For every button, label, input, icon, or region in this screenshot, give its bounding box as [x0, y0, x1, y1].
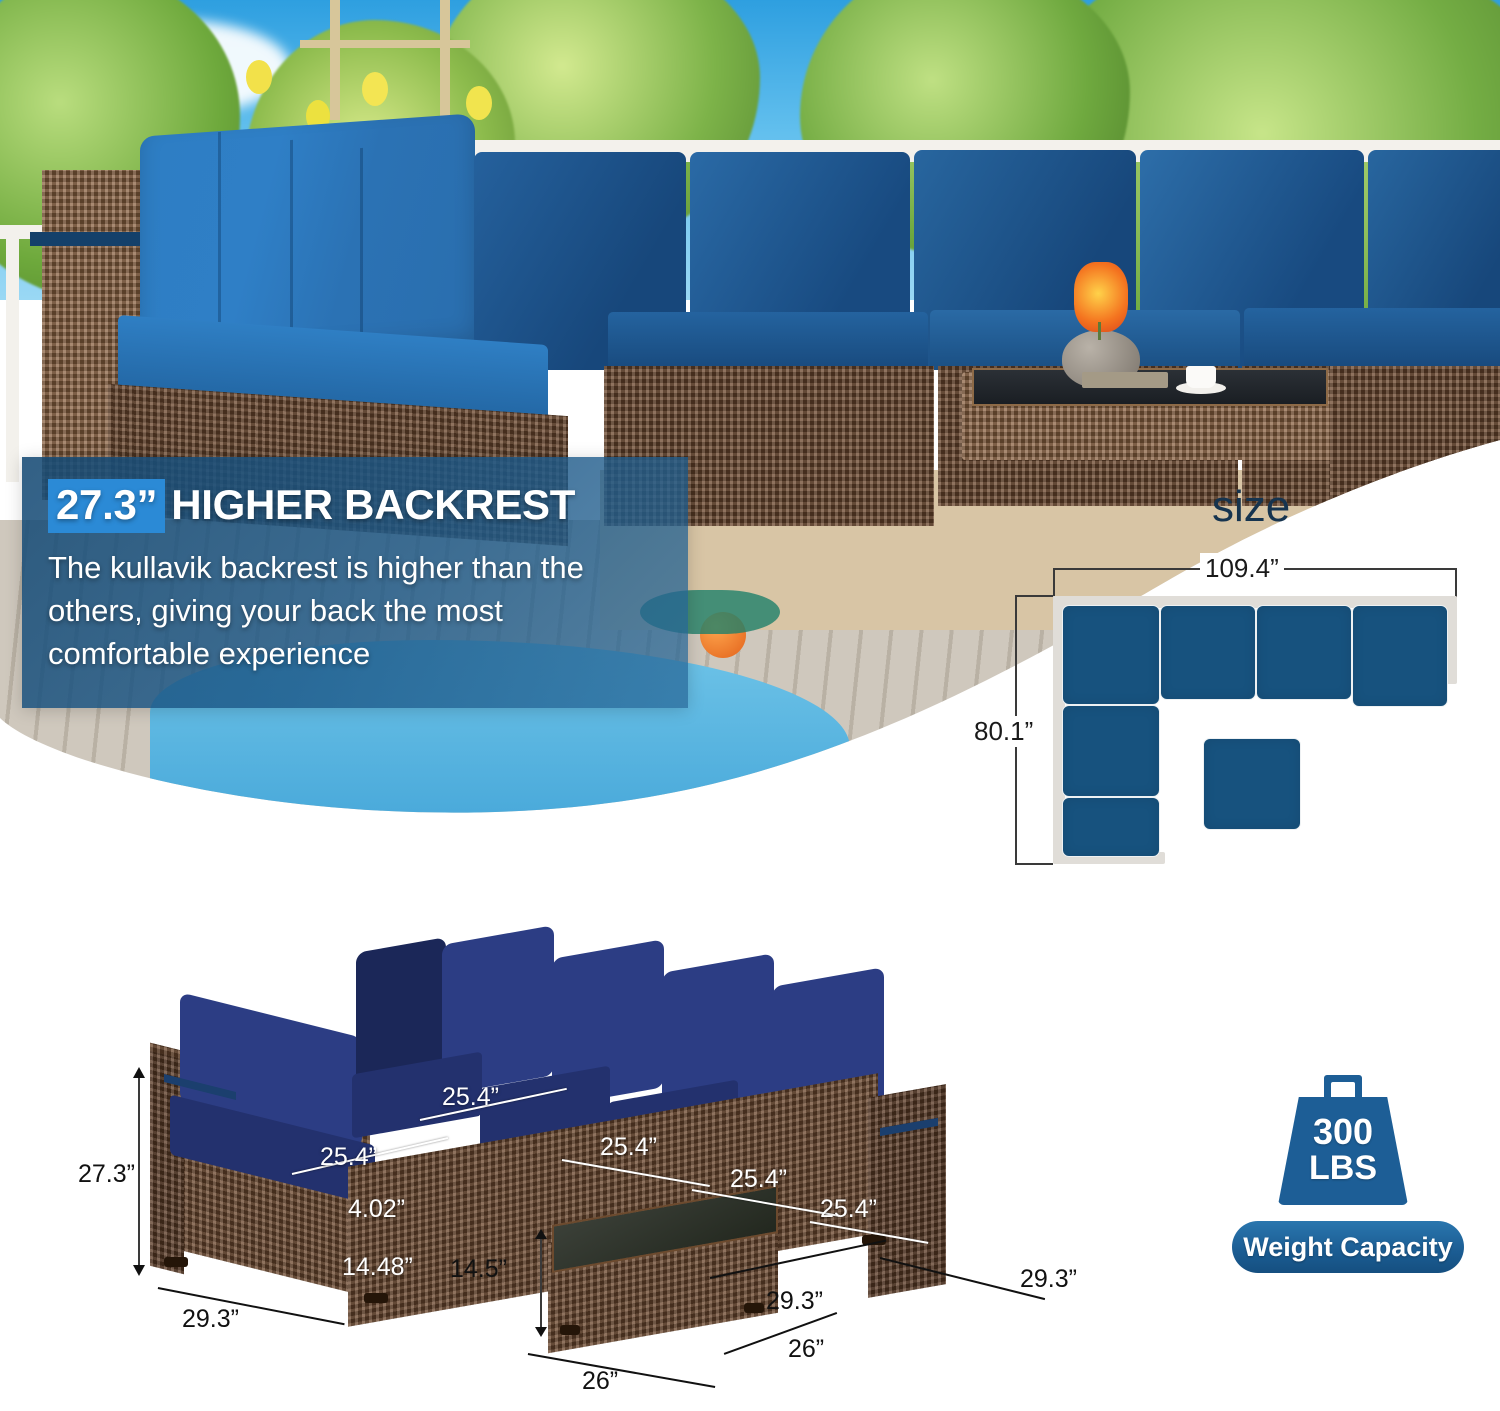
weight-number: 300 [1278, 1111, 1408, 1153]
arrowhead-up-icon [133, 1067, 145, 1078]
headline-rest: HIGHER BACKREST [171, 481, 575, 528]
flower-bouquet [1074, 262, 1128, 332]
sofa-foot [164, 1257, 188, 1267]
table-pad [1203, 738, 1301, 830]
weight-unit: LBS [1278, 1149, 1408, 1188]
table-depth-dimension-label: 26” [788, 1335, 824, 1364]
trellis-post [330, 0, 340, 120]
base-height-label: 14.48” [342, 1253, 413, 1282]
flower-stem [1098, 322, 1101, 340]
seat-width-label: 25.4” [442, 1083, 499, 1112]
seat-width-label: 25.4” [730, 1165, 787, 1194]
arrowhead-down-icon [535, 1327, 547, 1337]
weight-capacity-badge: 300 LBS Weight Capacity [1232, 1075, 1472, 1285]
table-height-dimension-label: 14.5” [450, 1255, 507, 1284]
height-dimension-label: 27.3” [78, 1160, 135, 1189]
feature-headline: 27.3”HIGHER BACKREST [48, 479, 575, 533]
depth-dimension-label: 80.1” [969, 716, 1038, 747]
table-width-dimension-label: 26” [582, 1367, 618, 1396]
size-section-title: size [1212, 482, 1290, 532]
dimensions-3d-diagram: 27.3” 29.3” 29.3” 29.3” 14.5” 26” 26” 25… [120, 905, 1180, 1405]
backrest-seam [360, 148, 363, 356]
railing-post [6, 232, 19, 482]
right-base-dimension-label: 29.3” [766, 1287, 823, 1316]
sofa-base-wicker [1330, 366, 1500, 516]
trellis-rail [300, 40, 470, 48]
feature-body-text: The kullavik backrest is higher than the… [48, 547, 658, 675]
weight-capacity-pill: Weight Capacity [1232, 1221, 1464, 1273]
lemon-fruit [362, 72, 388, 106]
coffee-cup [1186, 366, 1216, 388]
headline-measure-badge: 27.3” [48, 479, 165, 533]
table-foot [560, 1325, 580, 1335]
seat-width-label: 25.4” [320, 1143, 377, 1172]
height-dimension-line [138, 1073, 140, 1271]
cushion-pad [1352, 605, 1448, 707]
cushion-pad [1062, 797, 1160, 857]
backrest-seam [218, 132, 221, 354]
arrowhead-down-icon [133, 1265, 145, 1276]
cushion-pad [1062, 605, 1160, 705]
table-width-dimension-line [528, 1353, 715, 1387]
table-foot [744, 1303, 764, 1313]
sofa-foot [364, 1293, 388, 1303]
lemon-fruit [466, 86, 492, 120]
cushion-pad [1160, 605, 1256, 700]
feature-text-card: 27.3”HIGHER BACKREST The kullavik backre… [22, 457, 688, 708]
seat-cushion [608, 312, 928, 372]
table-height-dimension-line [540, 1235, 542, 1333]
lemon-fruit [246, 60, 272, 94]
arrowhead-up-icon [535, 1229, 547, 1239]
backrest-seam [290, 140, 293, 355]
width-dimension-label: 109.4” [1200, 553, 1284, 584]
seat-width-label: 25.4” [600, 1133, 657, 1162]
depth-right-dimension-label: 29.3” [1020, 1265, 1077, 1294]
right-arm-side [868, 1084, 946, 1298]
cushion-pad [1256, 605, 1352, 700]
width-dimension-tick [1053, 568, 1055, 596]
weight-icon: 300 LBS [1278, 1075, 1408, 1205]
weight-capacity-caption: Weight Capacity [1243, 1232, 1453, 1263]
cushion-thickness-label: 4.02” [348, 1195, 405, 1224]
depth-dimension-tick [1015, 595, 1053, 597]
size-layout-diagram: 109.4” 80.1” [1005, 550, 1485, 900]
seat-width-label: 25.4” [820, 1195, 877, 1224]
tray [1082, 372, 1168, 388]
seat-cushion [1244, 308, 1500, 370]
depth-dimension-tick [1015, 863, 1053, 865]
cushion-pad [1062, 705, 1160, 797]
depth-front-dimension-label: 29.3” [182, 1305, 239, 1334]
